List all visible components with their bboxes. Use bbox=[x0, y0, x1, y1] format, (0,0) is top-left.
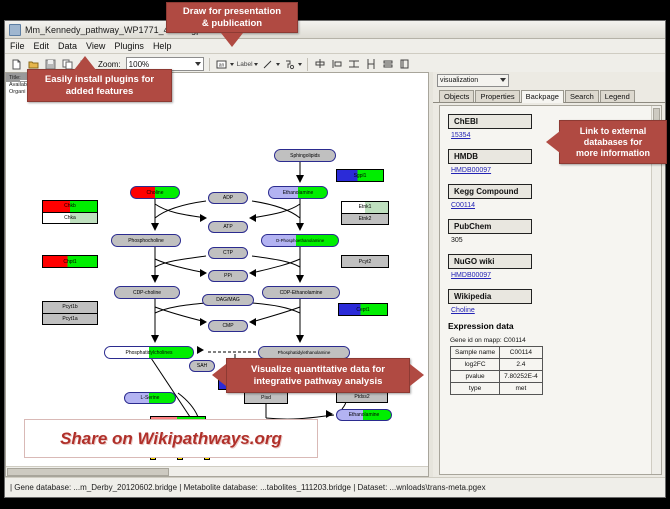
node-phosphocholine[interactable]: Phosphocholine bbox=[111, 234, 181, 247]
expression-table: Sample name C00114 log2FC 2.4 pvalue 7.8… bbox=[450, 346, 543, 395]
table-cell-key: pvalue bbox=[451, 371, 500, 383]
backpage-header-hmdb: HMDB bbox=[448, 149, 532, 164]
gene-id-line: Gene id on mapp: C00114 bbox=[450, 337, 653, 344]
gene-label: Pcyt2 bbox=[359, 259, 372, 265]
node-label: Ethanolamine bbox=[349, 412, 380, 418]
callout-plugins-line2: added features bbox=[66, 86, 134, 98]
chevron-down-icon bbox=[276, 63, 280, 66]
node-label: Choline bbox=[147, 190, 164, 196]
callout-link-databases: Link to external databases for more info… bbox=[559, 120, 667, 164]
menu-item-file[interactable]: File bbox=[10, 41, 25, 51]
node-label: Ethanolamine bbox=[283, 190, 314, 196]
table-cell-value: 2.4 bbox=[500, 359, 543, 371]
title-bar: Mm_Kennedy_pathway_WP1771_45176.gpml bbox=[5, 21, 665, 39]
chevron-down-icon bbox=[254, 63, 258, 66]
callout-visualize-line2: integrative pathway analysis bbox=[254, 376, 383, 388]
node-ppi[interactable]: PPi bbox=[208, 270, 248, 282]
node-label: Sphingolipids bbox=[290, 153, 320, 159]
node-phosphatidylcholines[interactable]: Phosphatidylcholines bbox=[104, 346, 194, 359]
align-left-icon[interactable] bbox=[330, 57, 344, 71]
callout-draw-arrow bbox=[221, 33, 243, 47]
backpage-header-wikipedia: Wikipedia bbox=[448, 289, 532, 304]
anchor-icon[interactable] bbox=[283, 57, 297, 71]
callout-link-arrow bbox=[546, 131, 560, 153]
backpage-link-hmdb[interactable]: HMDB00097 bbox=[451, 167, 653, 174]
callout-plugins-line1: Easily install plugins for bbox=[45, 74, 154, 86]
node-label: CDP-choline bbox=[133, 290, 161, 296]
backpage-link-kegg[interactable]: C00114 bbox=[451, 202, 653, 209]
status-text: | Gene database: ...m_Derby_20120602.bri… bbox=[5, 483, 486, 492]
callout-draw-line1: Draw for presentation bbox=[183, 6, 281, 18]
gene-label: Cept1 bbox=[356, 307, 369, 313]
node-label: CTP bbox=[223, 250, 233, 256]
gene-label: Pcyt1a bbox=[62, 316, 77, 322]
node-label: ADP bbox=[223, 195, 233, 201]
zoom-label: Zoom: bbox=[98, 60, 121, 69]
table-row: log2FC 2.4 bbox=[451, 359, 543, 371]
stack-icon[interactable] bbox=[381, 57, 395, 71]
label-tool-label: Label bbox=[237, 61, 253, 68]
backpage-header-chebi: ChEBI bbox=[448, 114, 532, 129]
visualization-bar: visualization bbox=[433, 72, 665, 88]
backpage-header-pubchem: PubChem bbox=[448, 219, 532, 234]
node-label: L-Serine bbox=[141, 395, 160, 401]
menu-item-data[interactable]: Data bbox=[58, 41, 77, 51]
align-center-icon[interactable] bbox=[313, 57, 327, 71]
table-cell-value: met bbox=[500, 383, 543, 395]
table-cell-key: type bbox=[451, 383, 500, 395]
backpage-header-nugo: NuGO wiki bbox=[448, 254, 532, 269]
pathway-canvas[interactable]: Title: Availab Organi bbox=[5, 72, 429, 477]
callout-visualize-arrow-left bbox=[212, 364, 226, 386]
gene-box-sgpl1[interactable]: Sgpl1 bbox=[336, 169, 384, 182]
gene-label: Chkb bbox=[64, 203, 76, 209]
node-label: O-Phosphoethanolamine bbox=[276, 238, 325, 243]
pathway-organism-label: Organi bbox=[9, 89, 27, 96]
gene-box-pcyt1b-pcyt1a[interactable]: Pcyt1b Pcyt1a bbox=[42, 301, 98, 325]
gene-label: Chka bbox=[64, 215, 76, 221]
screenshot-root: Mm_Kennedy_pathway_WP1771_45176.gpml Fil… bbox=[0, 0, 670, 509]
node-choline[interactable]: Choline bbox=[130, 186, 180, 199]
gene-label: Sgpl1 bbox=[354, 173, 367, 179]
svg-text:an: an bbox=[219, 62, 225, 68]
share-banner: Share on Wikipathways.org bbox=[24, 419, 318, 458]
node-label: Phosphatidylcholines bbox=[126, 350, 173, 356]
menu-item-view[interactable]: View bbox=[86, 41, 105, 51]
node-cdp-ethanolamine[interactable]: CDP-Ethanolamine bbox=[262, 286, 340, 299]
table-cell-value: 7.80252E-4 bbox=[500, 371, 543, 383]
distribute-vertical-icon[interactable] bbox=[347, 57, 361, 71]
canvas-hscroll-thumb[interactable] bbox=[7, 468, 169, 476]
table-row: Sample name C00114 bbox=[451, 347, 543, 359]
table-cell-key: log2FC bbox=[451, 359, 500, 371]
tab-backpage[interactable]: Backpage bbox=[521, 90, 564, 103]
status-bar: | Gene database: ...m_Derby_20120602.bri… bbox=[5, 477, 665, 497]
callout-draw-line2: & publication bbox=[202, 18, 262, 30]
callout-draw: Draw for presentation & publication bbox=[166, 2, 298, 33]
tab-properties[interactable]: Properties bbox=[475, 90, 519, 102]
callout-link-line2: databases for bbox=[584, 137, 643, 148]
node-cmp[interactable]: CMP bbox=[208, 320, 248, 332]
gene-box-etnk1-etnk2[interactable]: Etnk1 Etnk2 bbox=[341, 201, 389, 225]
canvas-hscrollbar[interactable] bbox=[6, 466, 428, 476]
gene-label: Etnk1 bbox=[359, 204, 372, 210]
side-panel-tabs: Objects Properties Backpage Search Legen… bbox=[433, 88, 665, 103]
line-dropdown[interactable] bbox=[261, 57, 280, 71]
datanode-dropdown[interactable]: an bbox=[215, 57, 234, 71]
share-banner-text: Share on Wikipathways.org bbox=[60, 429, 282, 449]
backpage-link-wikipedia[interactable]: Choline bbox=[451, 307, 653, 314]
chevron-down-icon bbox=[195, 62, 201, 66]
line-icon[interactable] bbox=[261, 57, 275, 71]
tab-search[interactable]: Search bbox=[565, 90, 599, 102]
callout-plugins: Easily install plugins for added feature… bbox=[27, 69, 172, 102]
tab-objects[interactable]: Objects bbox=[439, 90, 474, 102]
node-label: ATP bbox=[223, 224, 232, 230]
gene-label: Chpt1 bbox=[63, 259, 76, 265]
backpage-link-nugo[interactable]: HMDB00097 bbox=[451, 272, 653, 279]
table-cell-value: C00114 bbox=[500, 347, 543, 359]
node-label: CMP bbox=[222, 323, 233, 329]
node-ctp[interactable]: CTP bbox=[208, 247, 248, 259]
chevron-down-icon bbox=[230, 63, 234, 66]
expression-data-title: Expression data bbox=[448, 321, 653, 331]
node-cdp-choline[interactable]: CDP-choline bbox=[114, 286, 180, 299]
callout-plugins-arrow bbox=[74, 56, 96, 70]
gene-box-chpt1[interactable]: Chpt1 bbox=[42, 255, 98, 268]
app-icon bbox=[9, 24, 21, 36]
backpage-header-kegg: Kegg Compound bbox=[448, 184, 532, 199]
node-atp[interactable]: ATP bbox=[208, 221, 248, 233]
gene-label: Pisd bbox=[261, 395, 271, 401]
callout-visualize: Visualize quantitative data for integrat… bbox=[226, 358, 410, 393]
menu-item-plugins[interactable]: Plugins bbox=[114, 41, 144, 51]
gene-box-chkb-chka[interactable]: Chkb Chka bbox=[42, 200, 98, 224]
table-cell-key: Sample name bbox=[451, 347, 500, 359]
datanode-icon[interactable]: an bbox=[215, 57, 229, 71]
menu-item-help[interactable]: Help bbox=[153, 41, 172, 51]
node-label: CDP-Ethanolamine bbox=[280, 290, 323, 296]
table-row: pvalue 7.80252E-4 bbox=[451, 371, 543, 383]
pathway-title-label: Title: bbox=[9, 75, 27, 82]
chevron-down-icon bbox=[500, 78, 506, 82]
toolbar-separator bbox=[209, 58, 210, 71]
shape-dropdown[interactable] bbox=[283, 57, 302, 71]
node-ethanolamine[interactable]: Ethanolamine bbox=[268, 186, 328, 199]
node-adp[interactable]: ADP bbox=[208, 192, 248, 204]
node-dag-mag[interactable]: DAG/MAG bbox=[202, 294, 254, 306]
gene-box-pcyt2[interactable]: Pcyt2 bbox=[341, 255, 389, 268]
pathway-availability-label: Availab bbox=[9, 82, 27, 89]
gene-box-cept1[interactable]: Cept1 bbox=[338, 303, 388, 316]
new-icon[interactable] bbox=[9, 57, 23, 71]
node-label: PPi bbox=[224, 273, 232, 279]
pathway-info: Title: Availab Organi bbox=[9, 75, 27, 96]
menu-item-edit[interactable]: Edit bbox=[34, 41, 50, 51]
table-row: type met bbox=[451, 383, 543, 395]
node-label: Phosphatidylethanolamine bbox=[278, 350, 331, 355]
visualization-combo[interactable]: visualization bbox=[437, 74, 509, 87]
toolbar-separator bbox=[307, 58, 308, 71]
node-ethanolamine-bottom[interactable]: Ethanolamine bbox=[336, 409, 392, 421]
callout-visualize-arrow-right bbox=[410, 364, 424, 386]
label-dropdown[interactable]: Label bbox=[237, 61, 258, 68]
distribute-horizontal-icon[interactable] bbox=[364, 57, 378, 71]
gene-label: Pcyt1b bbox=[62, 304, 77, 310]
node-label: DAG/MAG bbox=[216, 297, 240, 303]
node-o-phosphoethanolamine[interactable]: O-Phosphoethanolamine bbox=[261, 234, 339, 247]
backpage-value-pubchem: 305 bbox=[451, 237, 653, 244]
visualization-value: visualization bbox=[440, 77, 478, 84]
zoom-value: 100% bbox=[129, 60, 149, 69]
gene-label: Ptdss2 bbox=[354, 394, 369, 400]
node-label: Phosphocholine bbox=[128, 238, 164, 244]
gene-label: Etnk2 bbox=[359, 216, 372, 222]
tab-legend[interactable]: Legend bbox=[600, 90, 635, 102]
chevron-down-icon bbox=[298, 63, 302, 66]
callout-link-line3: more information bbox=[576, 148, 650, 159]
node-l-serine-left[interactable]: L-Serine bbox=[124, 392, 176, 404]
group-icon[interactable] bbox=[398, 57, 412, 71]
node-label: SAH bbox=[197, 363, 207, 369]
callout-visualize-line1: Visualize quantitative data for bbox=[251, 364, 385, 376]
node-sphingolipids[interactable]: Sphingolipids bbox=[274, 149, 336, 162]
callout-link-line1: Link to external bbox=[580, 126, 647, 137]
menu-bar: File Edit Data View Plugins Help bbox=[5, 39, 665, 54]
